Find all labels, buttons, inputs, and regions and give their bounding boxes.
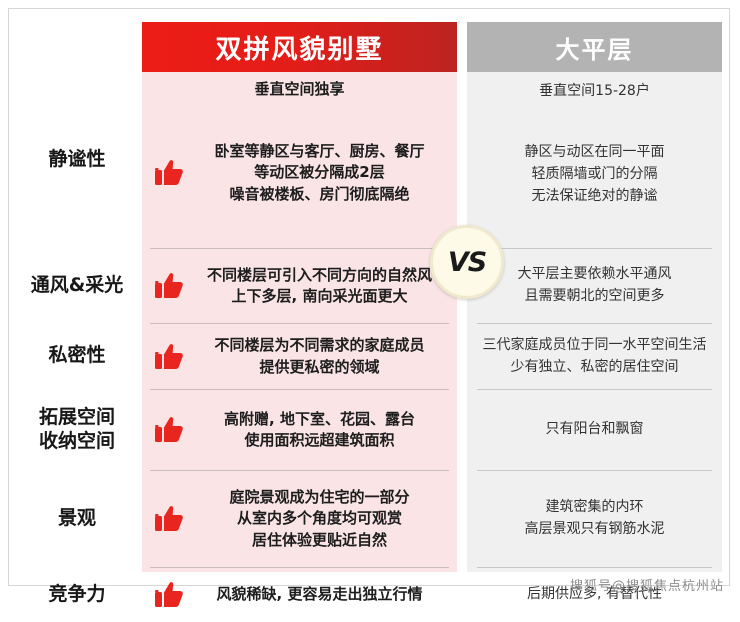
flat-cell-1: 静区与动区在同一平面 轻质隔墙或门的分隔 无法保证绝对的静谧: [467, 102, 722, 248]
flat-cell-4: 只有阳台和飘窗: [467, 390, 722, 470]
flat-header-label: 大平层: [556, 30, 634, 65]
flat-cell-5: 建筑密集的内环 高层景观只有钢筋水泥: [467, 471, 722, 567]
vs-badge: VS: [430, 225, 504, 299]
criteria-label-1: 静谧性: [48, 148, 105, 172]
villa-cell-6-text: 风貌稀缺, 更容易走出独立行情: [190, 584, 449, 605]
criteria-column-body: 静谧性 通风&采光 私密性 拓展空间 收纳空间 景观 竞争力: [14, 72, 140, 572]
criteria-label-2: 通风&采光: [31, 274, 124, 298]
villa-header-label: 双拼风貌别墅: [215, 29, 383, 66]
thumbs-up-icon: [152, 269, 186, 303]
thumbs-up-icon: [152, 502, 186, 536]
villa-cell-2-text: 不同楼层可引入不同方向的自然风 上下多层, 南向采光面更大: [190, 265, 449, 308]
criteria-label-row-6: 竞争力: [14, 567, 140, 622]
villa-cell-4: 高附赠, 地下室、花园、露台 使用面积远超建筑面积: [142, 390, 457, 470]
flat-cell-3-text: 三代家庭成员位于同一水平空间生活 少有独立、私密的居住空间: [483, 335, 707, 378]
villa-cell-6: 风貌稀缺, 更容易走出独立行情: [142, 568, 457, 622]
criteria-label-6: 竞争力: [48, 583, 105, 607]
comparison-table: 静谧性 通风&采光 私密性 拓展空间 收纳空间 景观 竞争力: [0, 0, 740, 602]
watermark: 搜狐号@搜狐焦点杭州站: [570, 575, 724, 594]
vs-badge-label: VS: [448, 247, 486, 278]
criteria-column: 静谧性 通风&采光 私密性 拓展空间 收纳空间 景观 竞争力: [14, 22, 140, 572]
villa-cell-1: 卧室等静区与客厅、厨房、餐厅 等动区被分隔成2层 噪音被楼板、房门彻底隔绝: [142, 98, 457, 248]
criteria-label-3: 私密性: [48, 344, 105, 368]
flat-cell-3: 三代家庭成员位于同一水平空间生活 少有独立、私密的居住空间: [467, 324, 722, 389]
villa-column-header: 双拼风貌别墅: [142, 22, 457, 72]
villa-cell-3-text: 不同楼层为不同需求的家庭成员 提供更私密的领域: [190, 335, 449, 378]
criteria-label-row-2: 通风&采光: [14, 248, 140, 323]
villa-column: 双拼风貌别墅 垂直空间独享 卧室等静区与客厅、厨房、餐厅 等动区被分隔成2层 噪…: [142, 22, 457, 572]
flat-cell-2-text: 大平层主要依赖水平通风 且需要朝北的空间更多: [518, 264, 672, 307]
villa-cell-5: 庭院景观成为住宅的一部分 从室内多个角度均可观赏 居住体验更贴近自然: [142, 471, 457, 567]
thumbs-up-icon: [152, 156, 186, 190]
villa-cell-4-text: 高附赠, 地下室、花园、露台 使用面积远超建筑面积: [190, 409, 449, 452]
flat-column-header: 大平层: [467, 22, 722, 72]
criteria-label-row-3: 私密性: [14, 323, 140, 389]
flat-cell-1-lead: 垂直空间15-28户: [467, 80, 722, 100]
criteria-label-row-5: 景观: [14, 470, 140, 567]
thumbs-up-icon: [152, 578, 186, 612]
villa-cell-3: 不同楼层为不同需求的家庭成员 提供更私密的领域: [142, 324, 457, 389]
villa-cell-1-lead: 垂直空间独享: [142, 78, 457, 99]
criteria-label-row-4: 拓展空间 收纳空间: [14, 389, 140, 470]
flat-cell-2: 大平层主要依赖水平通风 且需要朝北的空间更多: [467, 249, 722, 323]
villa-cell-5-text: 庭院景观成为住宅的一部分 从室内多个角度均可观赏 居住体验更贴近自然: [190, 487, 449, 551]
criteria-header-spacer: [14, 22, 140, 72]
villa-cell-1-text: 卧室等静区与客厅、厨房、餐厅 等动区被分隔成2层 噪音被楼板、房门彻底隔绝: [190, 141, 449, 205]
villa-cell-2: 不同楼层可引入不同方向的自然风 上下多层, 南向采光面更大: [142, 249, 457, 323]
comparison-infographic: 静谧性 通风&采光 私密性 拓展空间 收纳空间 景观 竞争力: [0, 0, 740, 602]
flat-column-body: 垂直空间15-28户 静区与动区在同一平面 轻质隔墙或门的分隔 无法保证绝对的静…: [467, 72, 722, 572]
flat-cell-4-text: 只有阳台和飘窗: [546, 419, 644, 441]
flat-column: 大平层 垂直空间15-28户 静区与动区在同一平面 轻质隔墙或门的分隔 无法保证…: [467, 22, 722, 572]
thumbs-up-icon: [152, 413, 186, 447]
thumbs-up-icon: [152, 340, 186, 374]
villa-column-body: 垂直空间独享 卧室等静区与客厅、厨房、餐厅 等动区被分隔成2层 噪音被楼板、房门…: [142, 72, 457, 572]
flat-cell-1-text: 静区与动区在同一平面 轻质隔墙或门的分隔 无法保证绝对的静谧: [525, 142, 665, 207]
criteria-label-5: 景观: [58, 507, 96, 531]
criteria-label-4: 拓展空间 收纳空间: [39, 406, 115, 454]
flat-cell-5-text: 建筑密集的内环 高层景观只有钢筋水泥: [525, 497, 665, 540]
criteria-label-row-1: 静谧性: [14, 72, 140, 248]
